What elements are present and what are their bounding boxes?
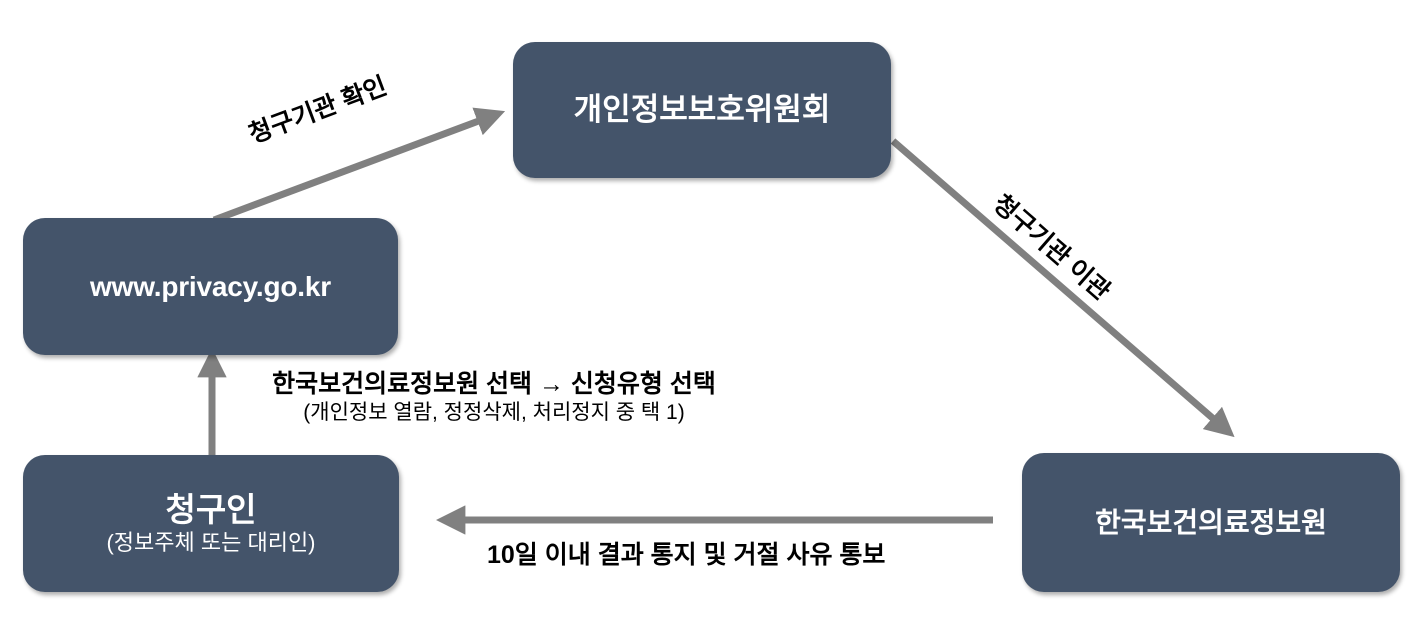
node-pipc[interactable]: 개인정보보호위원회 <box>513 42 891 178</box>
node-privacy-portal-title: www.privacy.go.kr <box>90 271 331 302</box>
node-privacy-portal[interactable]: www.privacy.go.kr <box>23 218 398 355</box>
node-claimant-title: 청구인 <box>165 492 256 529</box>
node-claimant-subtitle: (정보주체 또는 대리인) <box>106 530 315 555</box>
node-pipc-title: 개인정보보호위원회 <box>574 93 831 128</box>
edge-label-kmedihub-to-claimant: 10일 이내 결과 통지 및 거절 사유 통보 <box>487 535 885 571</box>
center-note: 한국보건의료정보원 선택 → 신청유형 선택 (개인정보 열람, 정정삭제, 처… <box>234 369 754 426</box>
arrow-pipc-to-kmedihub <box>893 141 1224 428</box>
node-kmedihub[interactable]: 한국보건의료정보원 <box>1022 453 1400 592</box>
center-note-line2: (개인정보 열람, 정정삭제, 처리정지 중 택 1) <box>234 400 754 426</box>
node-claimant[interactable]: 청구인 (정보주체 또는 대리인) <box>23 455 399 592</box>
center-note-line1: 한국보건의료정보원 선택 → 신청유형 선택 <box>234 369 754 399</box>
diagram-canvas: 개인정보보호위원회 www.privacy.go.kr 청구인 (정보주체 또는… <box>0 0 1427 624</box>
node-kmedihub-title: 한국보건의료정보원 <box>1095 507 1327 538</box>
